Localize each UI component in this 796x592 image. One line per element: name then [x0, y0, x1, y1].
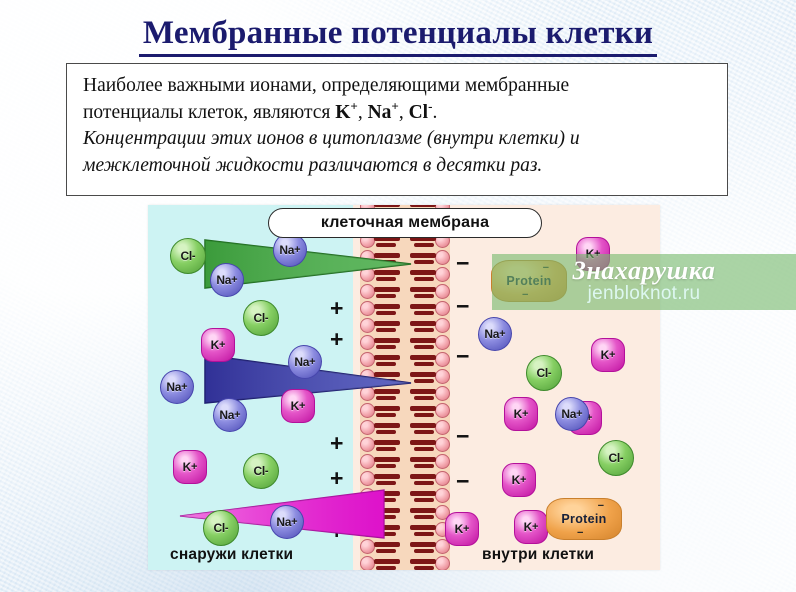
- lipid-head: [435, 556, 450, 570]
- lipid-tail: [414, 379, 434, 383]
- positive-charge-sign: +: [330, 432, 343, 455]
- intro-line-2-end: .: [432, 102, 437, 123]
- lipid-tail: [374, 559, 400, 564]
- membrane-diagram: +++++ −−−−−: [148, 205, 660, 570]
- lipid-head: [435, 386, 450, 401]
- positive-charge-sign: +: [330, 467, 343, 490]
- outside-cell-label: снаружи клетки: [170, 546, 293, 564]
- page-title-text: Мембранные потенциалы клетки: [139, 14, 657, 57]
- ion-symbol-k: K: [335, 102, 350, 123]
- ion-na: Na+: [478, 317, 512, 351]
- intro-textbox: Наиболее важными ионами, определяющими м…: [66, 63, 728, 196]
- ion-na: Na+: [555, 397, 589, 431]
- intro-sep-2: ,: [399, 102, 409, 123]
- ion-cl: Cl-: [526, 355, 562, 391]
- negative-charge-sign: −: [456, 470, 469, 493]
- ion-charge-k: +: [350, 98, 357, 113]
- ion-k: K+: [591, 338, 625, 372]
- ion-k: K+: [514, 510, 548, 544]
- lipid-head: [435, 488, 450, 503]
- ion-na: Na+: [270, 505, 304, 539]
- lipid-tail: [376, 481, 396, 485]
- lipid-tail: [410, 491, 436, 496]
- ion-label: Cl: [608, 451, 619, 465]
- lipid-head: [435, 454, 450, 469]
- ion-label: K: [183, 460, 191, 474]
- positive-charge-sign: +: [330, 328, 343, 351]
- ion-k: K+: [502, 463, 536, 497]
- lipid-tail: [414, 430, 434, 434]
- lipid-tail: [414, 396, 434, 400]
- lipid-head: [435, 250, 450, 265]
- ion-k: K+: [576, 237, 610, 271]
- intro-sep-1: ,: [358, 102, 368, 123]
- lipid-tail: [374, 542, 400, 547]
- lipid-tail: [374, 338, 400, 343]
- lipid-tail: [410, 355, 436, 360]
- lipid-tail: [374, 304, 400, 309]
- lipid-tail: [414, 260, 434, 264]
- ion-k: K+: [173, 450, 207, 484]
- lipid-tail: [374, 440, 400, 445]
- ion-label: Cl: [536, 366, 547, 380]
- ion-label: K: [455, 522, 463, 536]
- membrane-caption-text: клеточная мембрана: [321, 214, 489, 232]
- lipid-tail: [414, 243, 434, 247]
- lipid-tail: [414, 294, 434, 298]
- lipid-tail: [376, 566, 396, 570]
- lipid-head: [435, 267, 450, 282]
- lipid-tail: [410, 440, 436, 445]
- ion-label: Na: [219, 408, 234, 422]
- lipid-head: [435, 318, 450, 333]
- lipid-tail: [414, 532, 434, 536]
- ion-k: K+: [281, 389, 315, 423]
- lipid-head: [360, 437, 375, 452]
- lipid-tail: [376, 294, 396, 298]
- lipid-tail: [376, 464, 396, 468]
- lipid-tail: [410, 253, 436, 258]
- lipid-head: [360, 318, 375, 333]
- lipid-head: [360, 539, 375, 554]
- lipid-tail: [414, 481, 434, 485]
- protein-negative-charge: −: [543, 262, 549, 274]
- intro-line-2: потенциалы клеток, являются K+, Na+, Cl-…: [83, 100, 713, 127]
- ion-na: Na+: [288, 345, 322, 379]
- ion-label: Na: [216, 273, 231, 287]
- protein-negative-charge: −: [598, 500, 604, 512]
- lipid-head: [360, 420, 375, 435]
- lipid-head: [360, 403, 375, 418]
- ion-cl: Cl-: [598, 440, 634, 476]
- lipid-tail: [410, 321, 436, 326]
- protein-negative-charge: −: [522, 289, 528, 301]
- lipid-tail: [374, 457, 400, 462]
- lipid-head: [435, 284, 450, 299]
- lipid-head: [435, 301, 450, 316]
- lipid-tail: [410, 542, 436, 547]
- ion-cl: Cl-: [243, 300, 279, 336]
- ion-na: Na+: [160, 370, 194, 404]
- ion-symbol-na: Na: [368, 102, 392, 123]
- lipid-tail: [410, 474, 436, 479]
- lipid-tail: [410, 372, 436, 377]
- ion-label: K: [291, 399, 299, 413]
- lipid-tail: [376, 413, 396, 417]
- ion-k: K+: [445, 512, 479, 546]
- ion-label: Na: [294, 355, 309, 369]
- lipid-tail: [374, 406, 400, 411]
- lipid-head: [360, 471, 375, 486]
- negative-charge-sign: −: [456, 252, 469, 275]
- ion-label: Na: [279, 243, 294, 257]
- protein-negative-charge: −: [577, 527, 583, 539]
- ion-label: K: [601, 348, 609, 362]
- lipid-head: [435, 352, 450, 367]
- lipid-tail: [414, 328, 434, 332]
- ion-label: Cl: [180, 249, 191, 263]
- protein-molecule: Protein−−: [491, 260, 567, 302]
- ion-na: Na+: [213, 398, 247, 432]
- lipid-tail: [376, 549, 396, 553]
- intro-line-2-prefix: потенциалы клеток, являются: [83, 102, 335, 123]
- intro-line-3: Концентрации этих ионов в цитоплазме (вн…: [83, 126, 713, 153]
- ion-k: K+: [201, 328, 235, 362]
- lipid-head: [360, 301, 375, 316]
- ion-cl: Cl-: [170, 238, 206, 274]
- negative-charge-sign: −: [456, 425, 469, 448]
- lipid-tail: [374, 423, 400, 428]
- lipid-head: [435, 403, 450, 418]
- ion-na: Na+: [210, 263, 244, 297]
- ion-label: Na: [484, 327, 499, 341]
- intro-line-1: Наиболее важными ионами, определяющими м…: [83, 73, 713, 100]
- lipid-head: [435, 437, 450, 452]
- ion-cl: Cl-: [243, 453, 279, 489]
- lipid-tail: [374, 321, 400, 326]
- lipid-tail: [414, 549, 434, 553]
- ion-k: K+: [504, 397, 538, 431]
- inside-cell-label: внутри клетки: [482, 546, 594, 564]
- membrane-caption-pill: клеточная мембрана: [268, 208, 542, 238]
- ion-label: K: [586, 247, 594, 261]
- lipid-tail: [410, 457, 436, 462]
- lipid-tail: [414, 345, 434, 349]
- positive-charge-sign: +: [330, 297, 343, 320]
- ion-label: K: [211, 338, 219, 352]
- lipid-tail: [410, 304, 436, 309]
- lipid-tail: [410, 338, 436, 343]
- lipid-tail: [410, 287, 436, 292]
- lipid-tail: [414, 311, 434, 315]
- lipid-tail: [376, 430, 396, 434]
- lipid-tail: [374, 474, 400, 479]
- lipid-tail: [414, 464, 434, 468]
- lipid-tail: [374, 205, 400, 207]
- lipid-head: [435, 335, 450, 350]
- ion-label: Na: [166, 380, 181, 394]
- lipid-tail: [414, 498, 434, 502]
- lipid-tail: [414, 413, 434, 417]
- ion-symbol-cl: Cl: [409, 102, 429, 123]
- lipid-head: [360, 335, 375, 350]
- lipid-tail: [376, 311, 396, 315]
- ion-na: Na+: [273, 233, 307, 267]
- lipid-head: [360, 454, 375, 469]
- ion-label: K: [512, 473, 520, 487]
- lipid-tail: [410, 423, 436, 428]
- ion-label: Na: [561, 407, 576, 421]
- ion-label: K: [514, 407, 522, 421]
- page-title: Мембранные потенциалы клетки: [0, 14, 796, 57]
- ion-label: Cl: [253, 311, 264, 325]
- lipid-head: [435, 369, 450, 384]
- protein-molecule: Protein−−: [546, 498, 622, 540]
- lipid-head: [360, 556, 375, 570]
- lipid-head: [435, 420, 450, 435]
- ion-label: Cl: [253, 464, 264, 478]
- lipid-tail: [410, 525, 436, 530]
- lipid-tail: [376, 328, 396, 332]
- lipid-head: [435, 471, 450, 486]
- protein-label: Protein: [506, 274, 551, 288]
- ion-label: Cl: [213, 521, 224, 535]
- protein-label: Protein: [561, 512, 606, 526]
- negative-charge-sign: −: [456, 295, 469, 318]
- lipid-tail: [410, 389, 436, 394]
- lipid-tail: [376, 447, 396, 451]
- ion-cl: Cl-: [203, 510, 239, 546]
- lipid-tail: [410, 270, 436, 275]
- lipid-tail: [410, 508, 436, 513]
- ion-charge-na: +: [391, 98, 398, 113]
- lipid-tail: [410, 559, 436, 564]
- ion-label: Na: [276, 515, 291, 529]
- lipid-tail: [410, 205, 436, 207]
- intro-line-4: межклеточной жидкости различаются в деся…: [83, 153, 713, 180]
- lipid-tail: [376, 345, 396, 349]
- lipid-tail: [414, 515, 434, 519]
- ion-label: K: [524, 520, 532, 534]
- lipid-tail: [414, 566, 434, 570]
- lipid-tail: [414, 362, 434, 366]
- lipid-tail: [410, 406, 436, 411]
- lipid-tail: [414, 277, 434, 281]
- lipid-tail: [414, 447, 434, 451]
- slide-background: Мембранные потенциалы клетки Наиболее ва…: [0, 0, 796, 592]
- negative-charge-sign: −: [456, 345, 469, 368]
